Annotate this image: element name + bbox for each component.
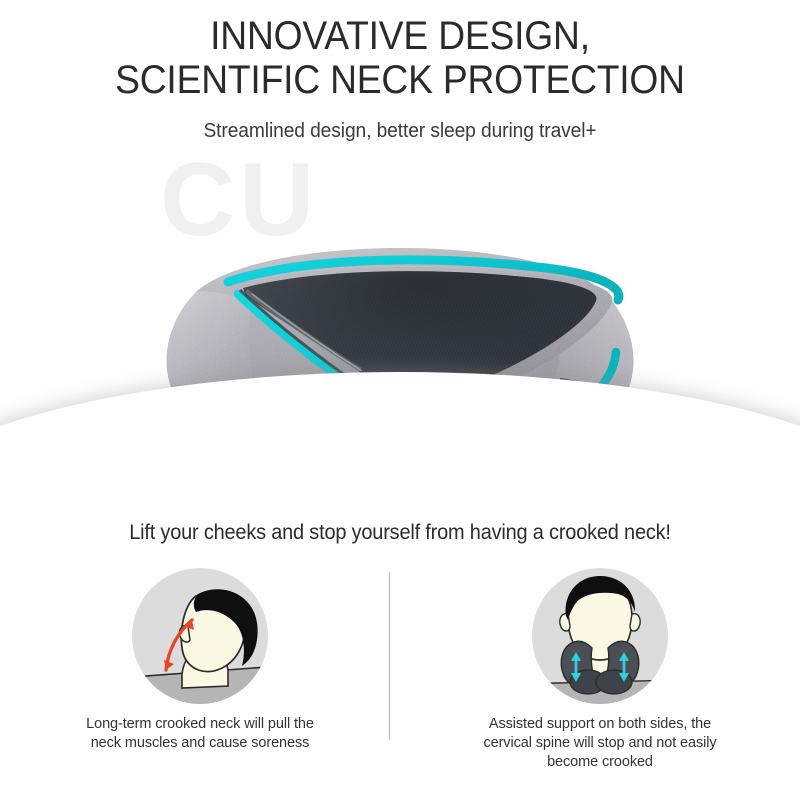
head-with-pillow-icon bbox=[530, 566, 670, 706]
panel-caption-right-line3: become crooked bbox=[547, 754, 653, 770]
comparison-panels: Long-term crooked neck will pull the nec… bbox=[0, 566, 800, 786]
section-caption: Lift your cheeks and stop yourself from … bbox=[20, 521, 780, 545]
panel-caption-left-line2: neck muscles and cause soreness bbox=[91, 735, 310, 751]
panel-caption-left-line1: Long-term crooked neck will pull the bbox=[86, 716, 314, 732]
tilted-head-icon bbox=[130, 566, 270, 706]
headline-line-2: SCIENTIFIC NECK PROTECTION bbox=[28, 58, 772, 102]
page-subtitle: Streamlined design, better sleep during … bbox=[16, 120, 784, 143]
panel-caption-left: Long-term crooked neck will pull the nec… bbox=[50, 715, 350, 753]
panel-divider bbox=[389, 572, 390, 740]
panel-pillow-support-solution: Assisted support on both sides, the cerv… bbox=[400, 566, 800, 786]
panel-caption-right: Assisted support on both sides, the cerv… bbox=[450, 715, 750, 772]
panel-crooked-neck-problem: Long-term crooked neck will pull the nec… bbox=[0, 566, 400, 786]
panel-caption-right-line1: Assisted support on both sides, the bbox=[489, 716, 711, 732]
product-marketing-page: INNOVATIVE DESIGN, SCIENTIFIC NECK PROTE… bbox=[0, 0, 800, 800]
product-shadow bbox=[160, 408, 630, 454]
page-title: INNOVATIVE DESIGN, SCIENTIFIC NECK PROTE… bbox=[28, 14, 772, 102]
headline-line-1: INNOVATIVE DESIGN, bbox=[210, 14, 590, 58]
product-hero bbox=[0, 170, 800, 470]
panel-caption-right-line2: cervical spine will stop and not easily bbox=[483, 735, 716, 751]
